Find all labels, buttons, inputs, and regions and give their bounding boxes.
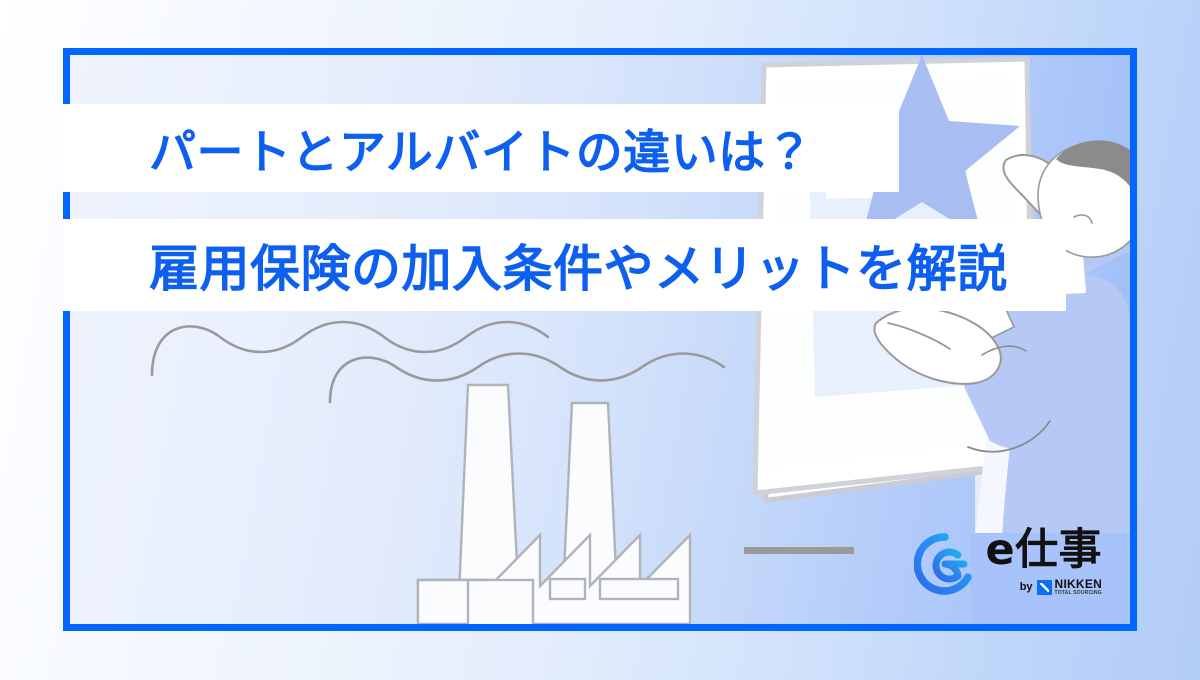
logo-by-label: by [1020, 581, 1033, 593]
wall-panel-illustration [975, 405, 1130, 537]
nikken-name: NIKKEN [1055, 578, 1102, 590]
nikken-mark-icon [1037, 580, 1052, 595]
logo-parent-company: by NIKKEN TOTAL SOURCING [1020, 578, 1102, 596]
person-illustration [874, 140, 1130, 537]
shelf-line [744, 547, 854, 554]
e-shigoto-logo[interactable]: e仕事 by NIKKEN TOTAL SOURCING [914, 529, 1102, 600]
nikken-tagline: TOTAL SOURCING [1055, 591, 1102, 596]
headline-band-2: 雇用保険の加入条件やメリットを解説 [63, 219, 1066, 311]
logo-wordmark: e仕事 [986, 529, 1102, 572]
smoke-wave-illustration [152, 322, 724, 402]
headline-line-1: パートとアルバイトの違いは？ [63, 114, 985, 183]
headline-band-1: パートとアルバイトの違いは？ [63, 104, 899, 192]
headline-line-2: 雇用保険の加入条件やメリットを解説 [63, 229, 1152, 301]
factory-illustration [418, 385, 690, 624]
e-circle-icon [914, 533, 976, 600]
nikken-badge: NIKKEN TOTAL SOURCING [1037, 578, 1102, 596]
banner-root: e仕事 by NIKKEN TOTAL SOURCING [0, 0, 1200, 680]
